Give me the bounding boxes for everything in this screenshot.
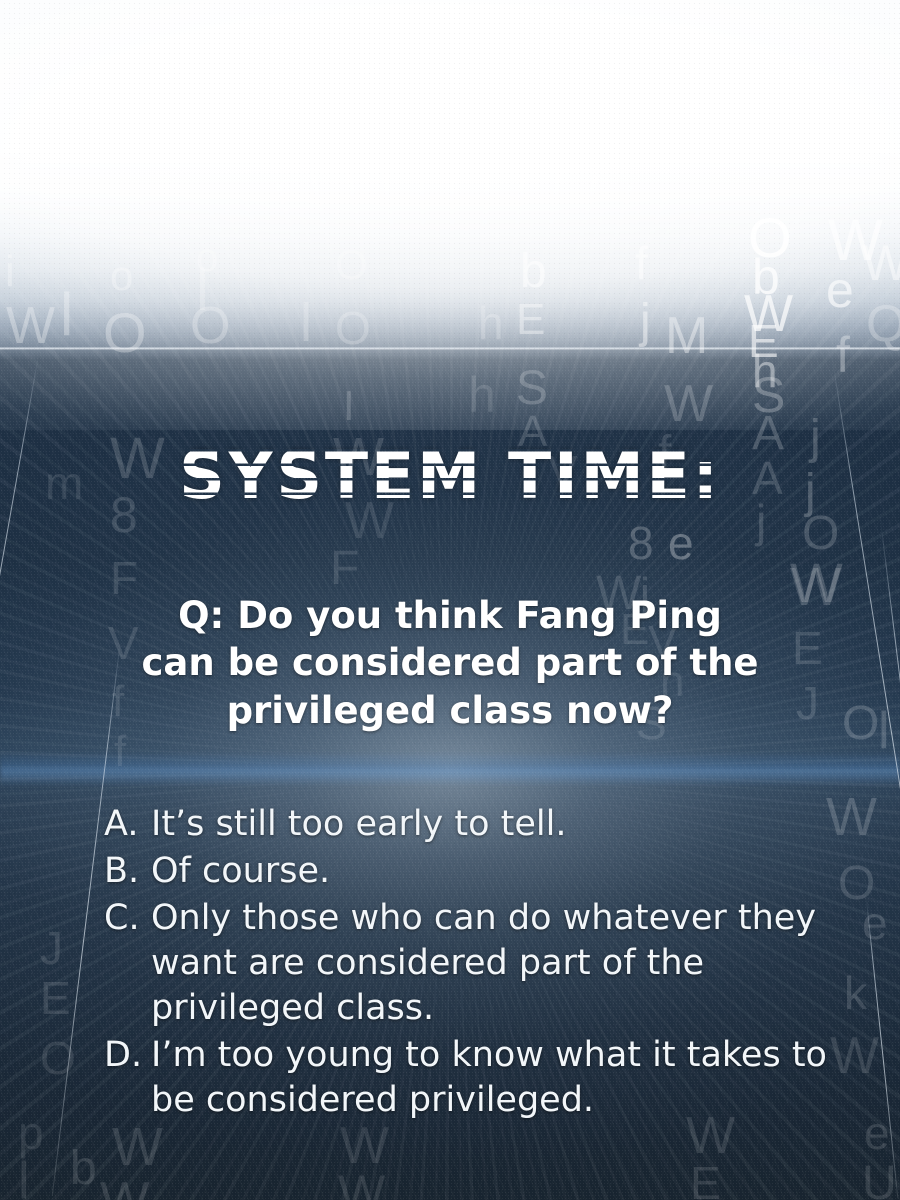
options-list: A.It’s still too early to tell.B.Of cour… — [104, 802, 844, 1125]
option-row[interactable]: C.Only those who can do whatever they wa… — [104, 896, 844, 1031]
option-letter: D. — [104, 1033, 151, 1078]
question-line: privileged class now? — [90, 687, 810, 734]
question-line: can be considered part of the — [90, 639, 810, 686]
option-text: Of course. — [151, 849, 844, 894]
question-text: Q: Do you think Fang Pingcan be consider… — [90, 592, 810, 734]
question-line: Q: Do you think Fang Ping — [90, 592, 810, 639]
option-row[interactable]: B.Of course. — [104, 849, 844, 894]
option-letter: C. — [104, 896, 151, 941]
option-letter: A. — [104, 802, 151, 847]
slide-root: ilWoOloOlOOIWhhbESAfjMWfObWEhSAWWeQfjjOW… — [0, 0, 900, 1200]
option-text: I’m too young to know what it takes to b… — [151, 1033, 844, 1123]
option-text: Only those who can do whatever they want… — [151, 896, 844, 1031]
page-title: SYSTEM TIME: — [18, 437, 882, 514]
option-row[interactable]: D.I’m too young to know what it takes to… — [104, 1033, 844, 1123]
slide-content: SYSTEM TIME: Q: Do you think Fang Pingca… — [0, 0, 900, 1200]
option-row[interactable]: A.It’s still too early to tell. — [104, 802, 844, 847]
option-letter: B. — [104, 849, 151, 894]
option-text: It’s still too early to tell. — [151, 802, 844, 847]
